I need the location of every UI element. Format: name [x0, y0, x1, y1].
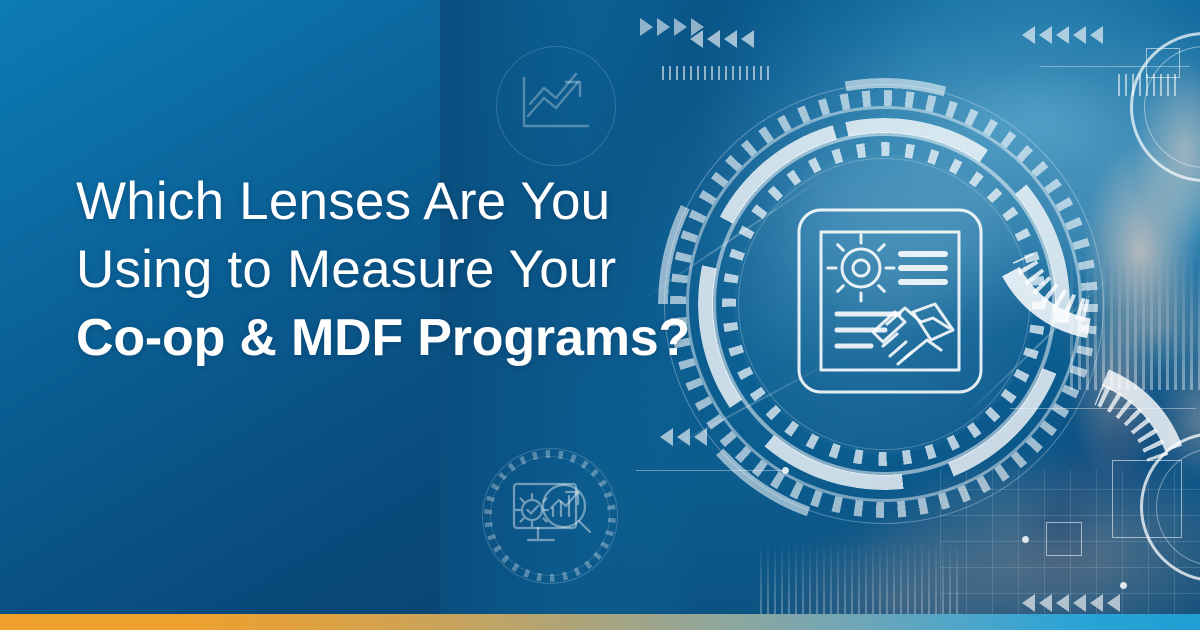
bottom-accent-bar [0, 614, 1200, 630]
chevron-left-cluster-icon [1022, 594, 1120, 612]
analytics-monitor-icon [508, 470, 600, 562]
node-dot-icon [1120, 582, 1127, 589]
chevron-left-cluster-icon [1022, 26, 1103, 44]
headline-line-3: Co-op & MDF Programs? [76, 304, 776, 372]
tick-strip-icon [1118, 74, 1178, 96]
chevron-right-cluster-icon [640, 18, 704, 36]
node-dot-icon [782, 467, 789, 474]
headline: Which Lenses Are You Using to Measure Yo… [76, 168, 776, 372]
data-bars-right [1070, 250, 1200, 390]
trend-chart-icon [518, 68, 594, 140]
data-bars-bottom [760, 540, 960, 620]
contract-handshake-icon [795, 206, 985, 396]
tick-strip-icon [662, 66, 772, 80]
headline-line-2: Using to Measure Your [76, 236, 776, 304]
node-dot-icon [1022, 536, 1029, 543]
guide-line [1010, 408, 1196, 409]
banner-root: Which Lenses Are You Using to Measure Yo… [0, 0, 1200, 630]
chevron-left-cluster-icon [660, 428, 707, 446]
headline-line-1: Which Lenses Are You [76, 168, 776, 236]
hud-square-icon [1112, 460, 1182, 538]
hud-square-icon [1046, 522, 1082, 556]
guide-line [636, 470, 786, 471]
